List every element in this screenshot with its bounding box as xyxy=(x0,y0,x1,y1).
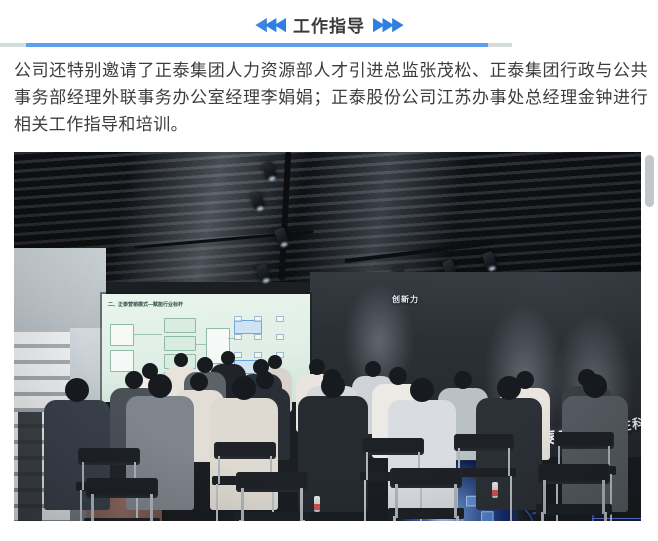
scrollbar-thumb[interactable] xyxy=(645,155,654,207)
left-arrows-icon: ◀◀◀ xyxy=(255,17,284,32)
water-bottle xyxy=(314,496,320,512)
chair xyxy=(454,434,514,478)
section-header-inner: ◀◀◀ 工作指导 ▶▶▶ xyxy=(255,12,402,37)
page-title: 工作指导 xyxy=(293,12,365,37)
chair xyxy=(86,478,158,521)
chair xyxy=(390,468,462,520)
slide-box xyxy=(164,318,196,333)
divider-cap-left xyxy=(0,43,26,47)
wall-label-innovation: 创新力 xyxy=(392,294,419,305)
chair xyxy=(236,472,308,521)
slide-connector xyxy=(134,334,162,335)
divider-cap-right xyxy=(488,43,512,47)
slide-connector xyxy=(196,344,206,345)
audience-person xyxy=(298,396,368,512)
article-photo: 创新力 正泰泰杰赛 专注科技 发展历程 泰杰赛 2009 2016 2017 xyxy=(14,152,641,521)
right-arrows-icon: ▶▶▶ xyxy=(374,17,403,32)
section-header: ◀◀◀ 工作指导 ▶▶▶ xyxy=(0,0,658,46)
page-scrollbar[interactable] xyxy=(644,150,655,530)
water-bottle xyxy=(492,482,498,498)
led-node xyxy=(481,511,493,521)
ceiling-light-glow xyxy=(14,152,641,282)
chair xyxy=(538,464,610,516)
slide-box xyxy=(110,350,134,372)
photo-scene: 创新力 正泰泰杰赛 专注科技 发展历程 泰杰赛 2009 2016 2017 xyxy=(14,152,641,521)
header-divider xyxy=(0,43,512,47)
left-dark-panel xyxy=(18,412,42,521)
divider-line xyxy=(26,43,488,47)
slide-title: 二、正泰营销模式—赋能行业标杆 xyxy=(108,301,183,308)
slide-box xyxy=(164,336,196,351)
slide-box xyxy=(110,324,134,346)
article-paragraph: 公司还特别邀请了正泰集团人力资源部人才引进总监张茂松、正泰集团行政与公共事务部经… xyxy=(14,57,648,138)
